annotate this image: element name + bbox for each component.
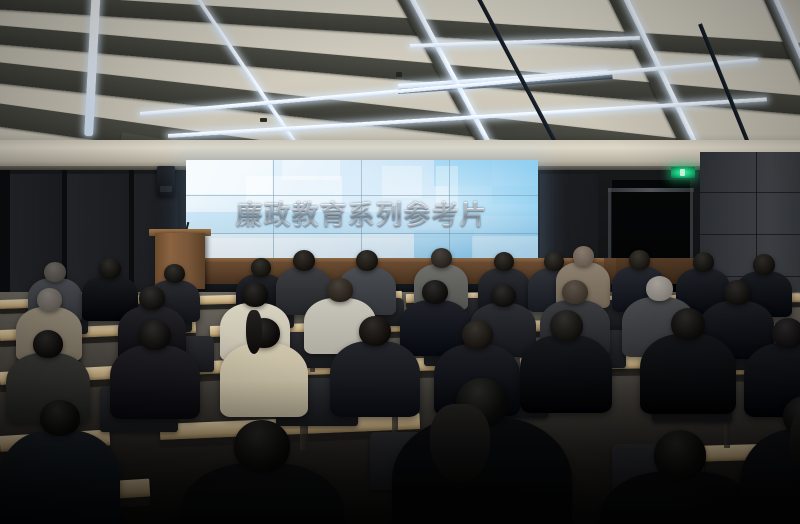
person-torso — [180, 463, 344, 524]
person-head — [99, 258, 121, 279]
person-head — [139, 286, 165, 310]
person-head — [654, 430, 706, 480]
audience-member — [600, 430, 760, 524]
audience-layer — [0, 0, 800, 524]
person-head — [772, 318, 800, 348]
person-head — [550, 310, 583, 341]
person-head — [293, 250, 315, 271]
person-head — [753, 254, 775, 275]
person-head — [573, 246, 594, 266]
person-head — [242, 282, 268, 307]
person-head — [491, 284, 516, 307]
person-head — [462, 320, 493, 349]
audience-member — [0, 400, 120, 524]
person-head — [40, 400, 80, 436]
person-head — [44, 262, 66, 282]
person-torso — [0, 430, 120, 524]
person-torso — [220, 343, 308, 417]
person-head — [494, 252, 514, 271]
person-head — [724, 280, 751, 305]
audience-member — [180, 420, 344, 524]
person-head — [693, 252, 714, 272]
person-head — [359, 316, 391, 346]
person-head — [562, 280, 588, 304]
person-head — [629, 250, 650, 270]
person-head — [646, 276, 673, 301]
conference-room-photo: 廉政教育系列参考片 — [0, 0, 800, 524]
person-head — [37, 288, 62, 311]
person-head — [327, 278, 353, 302]
person-head — [164, 264, 185, 283]
person-head — [139, 320, 171, 350]
person-head — [356, 250, 378, 271]
audience-member — [110, 320, 200, 424]
person-hair — [246, 310, 262, 354]
audience-member — [740, 396, 800, 524]
person-torso — [110, 345, 200, 419]
person-head — [234, 420, 290, 472]
person-head — [422, 280, 448, 304]
person-head — [671, 308, 705, 340]
person-torso — [640, 334, 736, 414]
audience-member — [220, 318, 308, 422]
person-head — [431, 248, 452, 268]
person-hair — [430, 404, 490, 482]
person-head — [251, 258, 271, 277]
person-head — [33, 330, 63, 358]
audience-member — [640, 308, 736, 420]
